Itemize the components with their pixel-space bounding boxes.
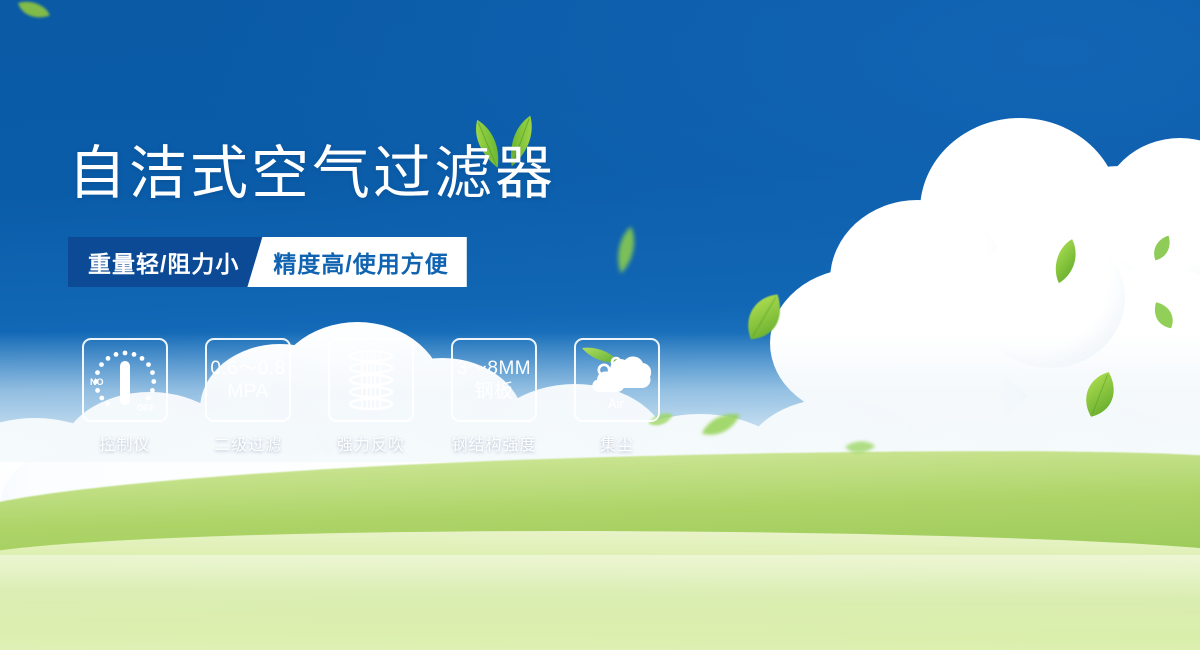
subtitle-left-text: 重量轻/阻力小 xyxy=(68,237,261,287)
steel-plate-text-icon: 3〜8MM 钢板 xyxy=(451,338,537,422)
feature-item-dust[interactable]: Air 集尘 xyxy=(574,338,660,455)
feature-item-steel[interactable]: 3〜8MM 钢板 钢结构强度 xyxy=(451,338,537,455)
leaf-floating-2 xyxy=(610,224,641,276)
air-label: Air xyxy=(608,396,625,411)
feature-label: 钢结构强度 xyxy=(451,431,536,455)
filter-stack-icon xyxy=(328,338,414,422)
steel-thickness: 3〜8MM xyxy=(457,357,531,380)
gauge-label-no: NO xyxy=(90,377,104,387)
feature-list: NO OFF 控制仪 0.6〜0.8 MPA 二级过滤 xyxy=(82,338,660,455)
grass-field xyxy=(0,435,1200,650)
pressure-text-icon: 0.6〜0.8 MPA xyxy=(205,338,291,422)
subtitle-right-text: 精度高/使用方便 xyxy=(247,237,466,287)
air-cloud-icon: Air xyxy=(574,338,660,422)
steel-material: 钢板 xyxy=(457,380,531,403)
feature-label: 二级过滤 xyxy=(214,431,282,455)
page-title: 自洁式空气过滤器 xyxy=(68,142,556,206)
feature-label: 控制仪 xyxy=(99,431,150,455)
feature-item-pressure[interactable]: 0.6〜0.8 MPA 二级过滤 xyxy=(205,338,291,455)
hero-banner: 自洁式空气过滤器 重量轻/阻力小 精度高/使用方便 xyxy=(0,0,1200,650)
pressure-value: 0.6〜0.8 xyxy=(210,357,285,380)
gauge-label-off: OFF xyxy=(137,403,155,413)
pressure-unit: MPA xyxy=(210,380,285,403)
gauge-control-icon: NO OFF xyxy=(82,338,168,422)
feature-item-control[interactable]: NO OFF 控制仪 xyxy=(82,338,168,455)
subtitle-banner: 重量轻/阻力小 精度高/使用方便 xyxy=(68,237,467,287)
feature-label: 集尘 xyxy=(600,431,634,455)
feature-item-blowback[interactable]: 强力反吹 xyxy=(328,338,414,455)
leaf-floating-1 xyxy=(14,0,52,27)
feature-label: 强力反吹 xyxy=(337,431,405,455)
